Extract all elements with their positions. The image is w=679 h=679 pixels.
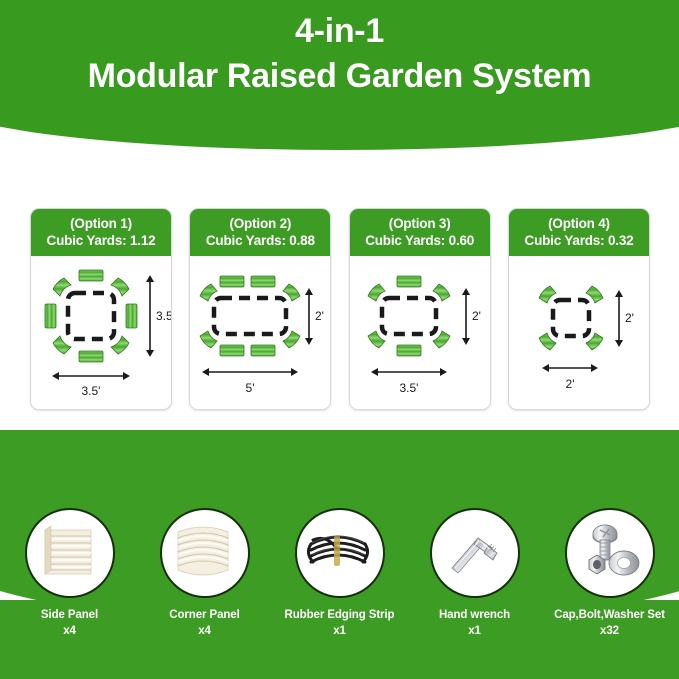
option-card-3-diagram: 2' 3.5': [350, 256, 490, 410]
option-card-4-cubic-yards: Cubic Yards: 0.32: [511, 232, 647, 249]
header-banner: 4-in-1 Modular Raised Garden System: [0, 0, 679, 150]
option-card-2[interactable]: (Option 2) Cubic Yards: 0.88 2' 5': [189, 208, 331, 410]
part-label-cap-bolt-washer: Cap,Bolt,Washer Set x32: [554, 608, 666, 639]
option-cards: (Option 1) Cubic Yards: 1.12: [30, 208, 650, 408]
option-card-3-body: 2' 3.5': [350, 256, 490, 409]
part-label-hand-wrench: Hand wrench x1: [419, 608, 531, 639]
part-circle-cap-bolt-washer: [565, 508, 655, 598]
option-card-2-option-label: (Option 2): [192, 215, 328, 232]
option-card-4-body: 2' 2': [509, 256, 649, 409]
option-card-1[interactable]: (Option 1) Cubic Yards: 1.12: [30, 208, 172, 410]
option-card-4[interactable]: (Option 4) Cubic Yards: 0.32 2' 2': [508, 208, 650, 410]
option-card-4-height-label: 2': [625, 311, 634, 325]
option-card-1-diagram: 3.5' 3.5': [31, 256, 171, 410]
option-card-2-height-label: 2': [315, 309, 324, 323]
part-qty-hand-wrench: x1: [419, 624, 531, 640]
part-label-side-panel: Side Panel x4: [14, 608, 126, 639]
parts-panel: Side Panel x4: [0, 430, 679, 679]
part-circle-hand-wrench: [430, 508, 520, 598]
page-title-line-1: 4-in-1: [0, 12, 679, 51]
cap-bolt-washer-icon: [567, 510, 649, 592]
hand-wrench-icon: [432, 510, 514, 592]
part-name-corner-panel: Corner Panel: [169, 609, 239, 621]
parts-list: Side Panel x4: [0, 508, 679, 668]
corner-panel-icon: [162, 510, 244, 592]
option-card-4-diagram: 2' 2': [509, 256, 649, 410]
part-qty-cap-bolt-washer: x32: [554, 624, 666, 640]
option-card-1-option-label: (Option 1): [33, 215, 169, 232]
part-item-corner-panel[interactable]: Corner Panel x4: [149, 508, 261, 668]
part-name-side-panel: Side Panel: [41, 609, 98, 621]
part-qty-corner-panel: x4: [149, 624, 261, 640]
option-card-4-width-label: 2': [566, 377, 575, 391]
part-name-cap-bolt-washer: Cap,Bolt,Washer Set: [554, 609, 665, 621]
part-circle-side-panel: [25, 508, 115, 598]
option-card-4-option-label: (Option 4): [511, 215, 647, 232]
part-circle-corner-panel: [160, 508, 250, 598]
option-card-3-cubic-yards: Cubic Yards: 0.60: [352, 232, 488, 249]
page-title: 4-in-1 Modular Raised Garden System: [0, 12, 679, 97]
option-card-2-header: (Option 2) Cubic Yards: 0.88: [190, 209, 330, 256]
option-card-1-height-label: 3.5': [156, 309, 171, 323]
option-card-2-body: 2' 5': [190, 256, 330, 409]
option-card-1-width-label: 3.5': [82, 384, 101, 398]
side-panel-icon: [27, 510, 109, 592]
part-name-hand-wrench: Hand wrench: [439, 609, 510, 621]
option-card-3-width-label: 3.5': [399, 381, 418, 395]
option-card-2-width-label: 5': [246, 381, 255, 395]
option-card-3[interactable]: (Option 3) Cubic Yards: 0.60 2' 3.5': [349, 208, 491, 410]
part-item-side-panel[interactable]: Side Panel x4: [14, 508, 126, 668]
part-item-cap-bolt-washer[interactable]: Cap,Bolt,Washer Set x32: [554, 508, 666, 668]
part-label-corner-panel: Corner Panel x4: [149, 608, 261, 639]
page-title-line-2: Modular Raised Garden System: [0, 57, 679, 96]
part-item-rubber-edging-strip[interactable]: Rubber Edging Strip x1: [284, 508, 396, 668]
option-card-1-header: (Option 1) Cubic Yards: 1.12: [31, 209, 171, 256]
part-item-hand-wrench[interactable]: Hand wrench x1: [419, 508, 531, 668]
part-label-rubber-edging-strip: Rubber Edging Strip x1: [284, 608, 396, 639]
part-qty-side-panel: x4: [14, 624, 126, 640]
option-card-1-body: 3.5' 3.5': [31, 256, 171, 409]
option-card-3-header: (Option 3) Cubic Yards: 0.60: [350, 209, 490, 256]
option-card-3-option-label: (Option 3): [352, 215, 488, 232]
option-card-4-header: (Option 4) Cubic Yards: 0.32: [509, 209, 649, 256]
option-card-2-cubic-yards: Cubic Yards: 0.88: [192, 232, 328, 249]
option-card-2-diagram: 2' 5': [190, 256, 330, 410]
part-name-rubber-edging-strip: Rubber Edging Strip: [285, 609, 395, 621]
option-card-3-height-label: 2': [472, 309, 481, 323]
part-circle-rubber-edging-strip: [295, 508, 385, 598]
rubber-edging-strip-icon: [297, 510, 379, 592]
option-card-1-cubic-yards: Cubic Yards: 1.12: [33, 232, 169, 249]
part-qty-rubber-edging-strip: x1: [284, 624, 396, 640]
